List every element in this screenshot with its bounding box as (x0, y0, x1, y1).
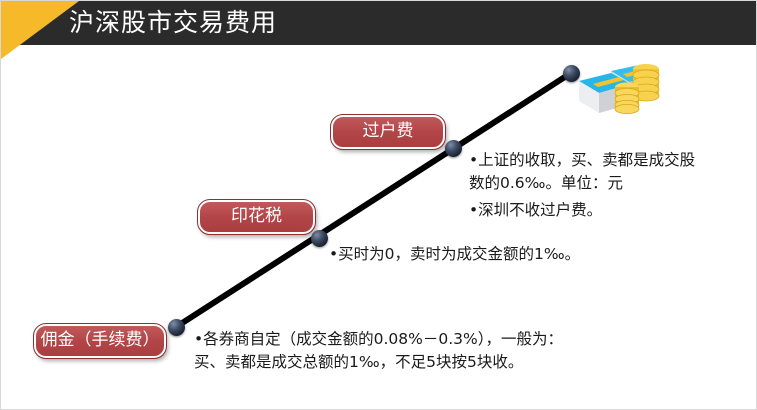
note-commission: •各券商自定（成交金额的0.08%－0.3%），一般为： 买、卖都是成交总额的1… (194, 328, 634, 374)
money-stack-svg (575, 59, 667, 121)
diagram-area: 佣金（手续费） 印花税 过户费 •各券商自定（成交金额的0.08%－0.3%），… (1, 45, 757, 410)
note-transfer-fee-2: •深圳不收过户费。 (469, 199, 757, 222)
node-transfer-fee[interactable] (445, 140, 462, 157)
slide-canvas: 沪深股市交易费用 (0, 0, 757, 410)
pill-stamp-duty[interactable]: 印花税 (198, 200, 315, 234)
coin-stack-short (615, 82, 639, 113)
note-transfer-fee-1: •上证的收取，买、卖都是成交股 数的0.6‰。单位：元 (469, 149, 757, 195)
pill-commission[interactable]: 佣金（手续费） (34, 324, 166, 358)
page-title: 沪深股市交易费用 (69, 8, 277, 38)
node-commission[interactable] (168, 319, 185, 336)
money-stack-icon (575, 59, 667, 125)
node-money-endpoint[interactable] (563, 65, 580, 82)
note-stamp-duty: •买时为0，卖时为成交金额的1‰。 (329, 243, 629, 266)
pill-transfer-fee[interactable]: 过户费 (331, 115, 445, 149)
node-stamp-duty[interactable] (311, 230, 328, 247)
